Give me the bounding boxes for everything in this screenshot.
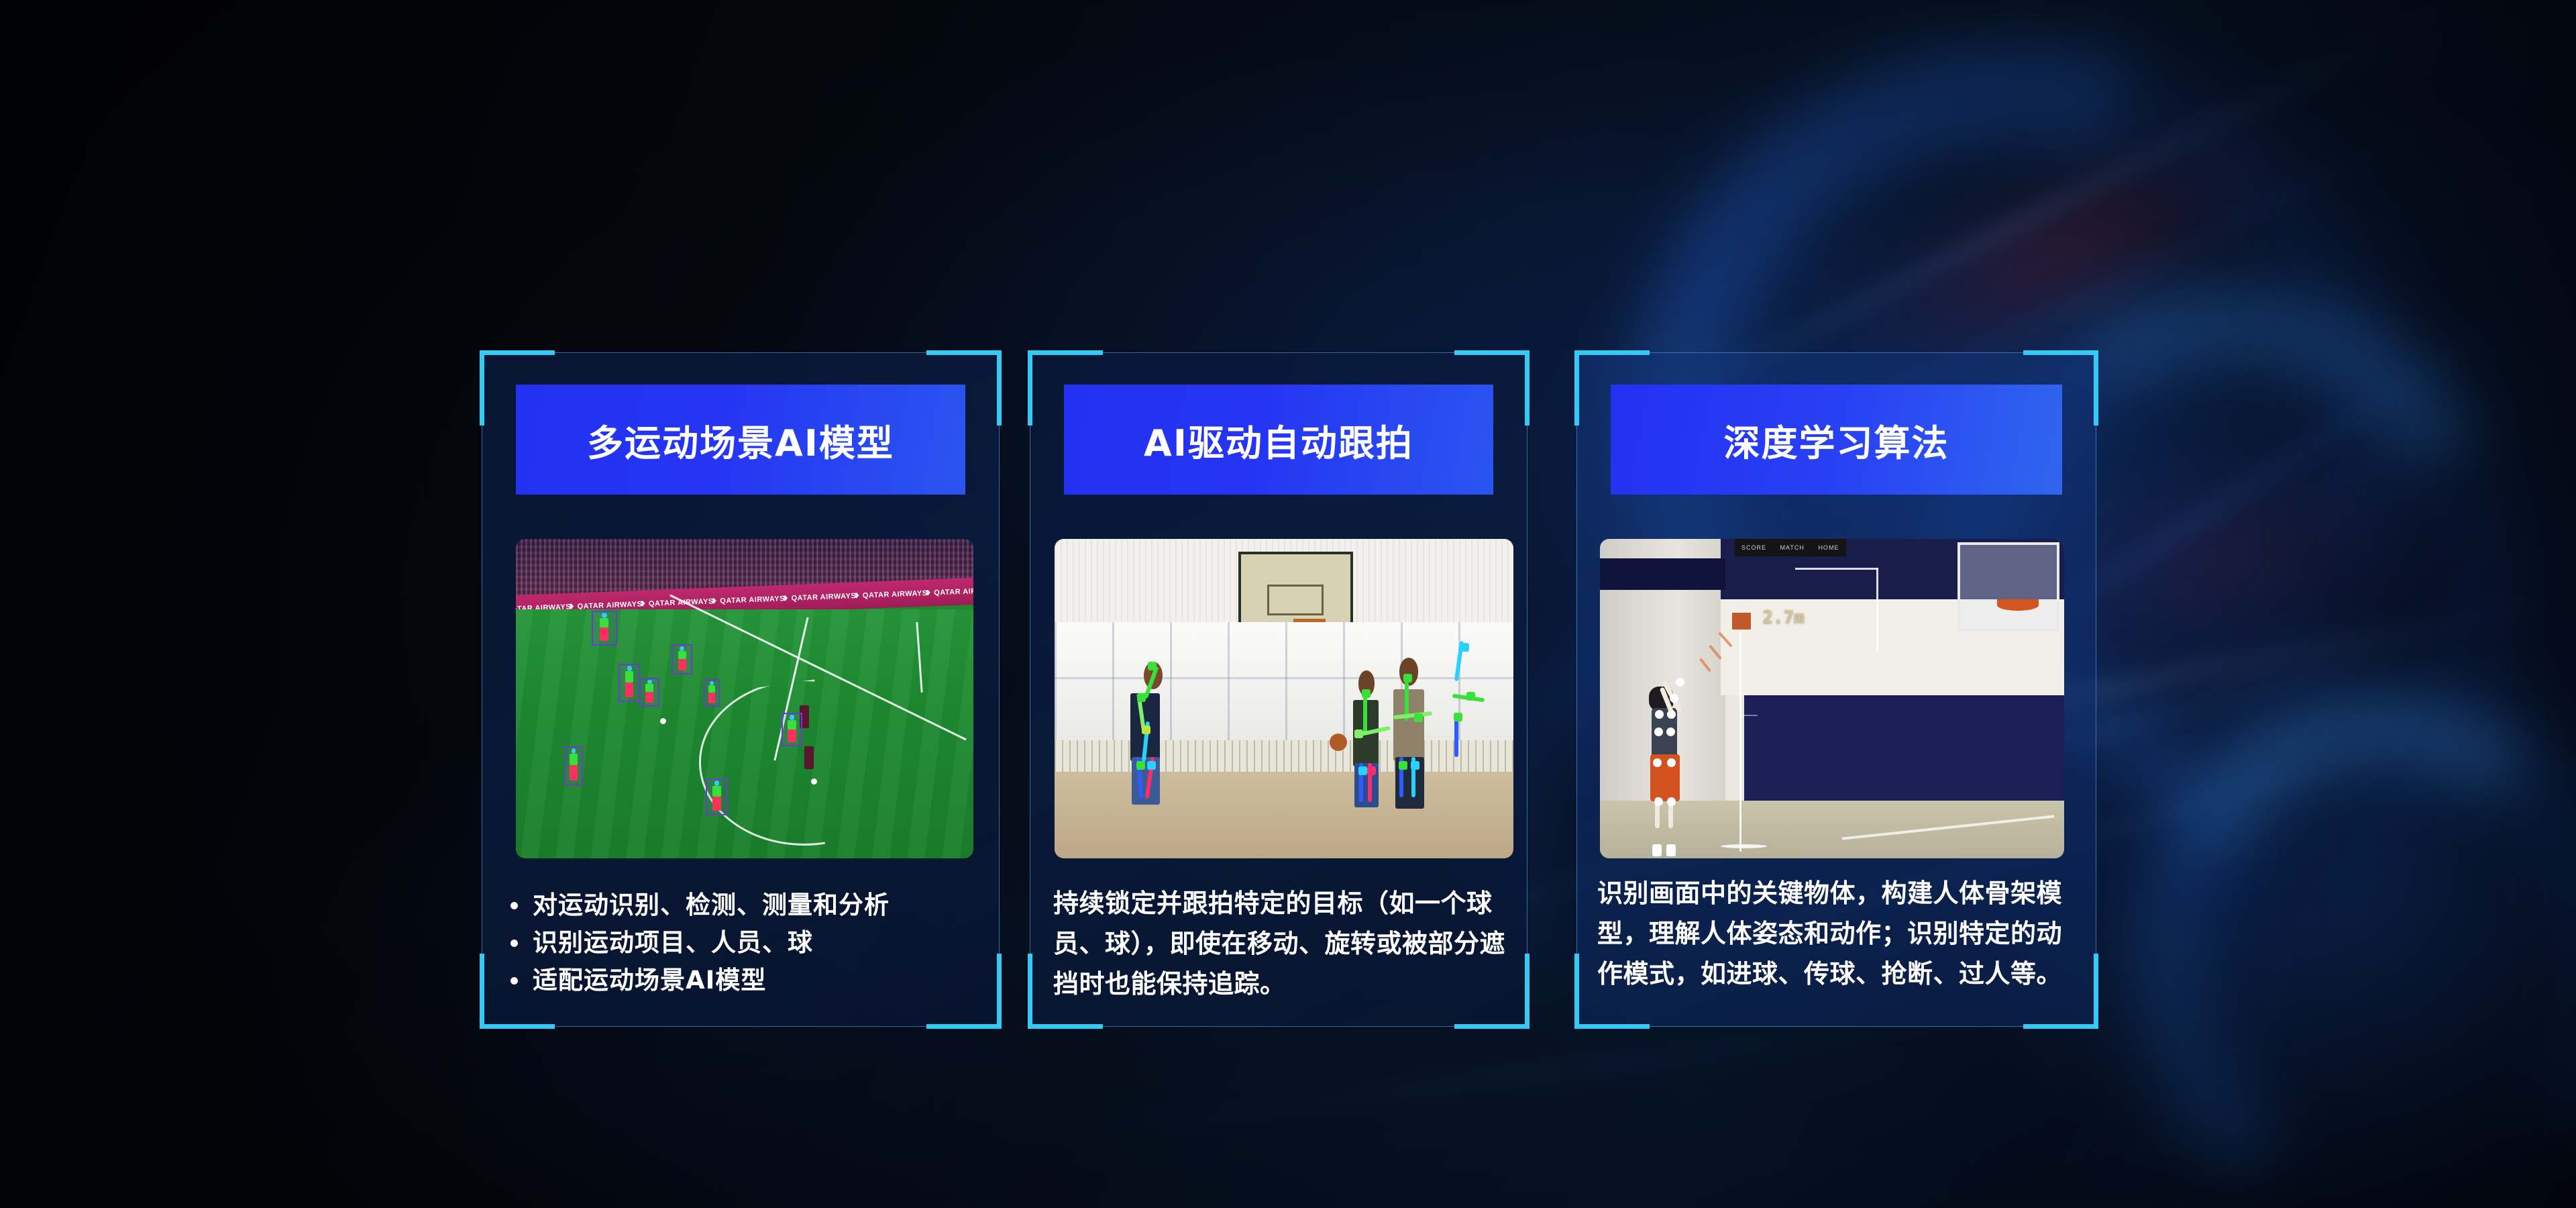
measurement-floor-marker [1721, 844, 1767, 848]
card-title: 深度学习算法 [1724, 413, 1949, 466]
pose-skeleton-player-1 [1114, 654, 1187, 852]
scoreboard-label: SCORE [1741, 544, 1766, 551]
card-media-shot-measurement: SCOREMATCHHOME 2.7m [1600, 539, 2064, 858]
pose-skeleton-shooter [1632, 679, 1707, 858]
card-body: 识别画面中的关键物体，构建人体骨架模型，理解人体姿态和动作；识别特定的动作模式，… [1577, 873, 2096, 994]
column-dark-band [1600, 558, 1725, 591]
card-body: 持续锁定并跟拍特定的目标（如一个球员、球），即使在移动、旋转或被部分遮挡时也能保… [1030, 883, 1527, 1004]
card-title: AI驱动自动跟拍 [1144, 413, 1413, 466]
bullet-text: 适配运动场景AI模型 [533, 962, 766, 999]
detection-box [704, 679, 720, 706]
ball-tracking-box [1730, 611, 1754, 632]
detection-box [619, 664, 639, 702]
detection-box [639, 678, 659, 707]
bullet-dot-icon [511, 977, 518, 985]
sponsor-text: ❥ QATAR AIRWAYS [711, 595, 785, 606]
bullet-dot-icon [511, 940, 518, 947]
feature-description: 持续锁定并跟拍特定的目标（如一个球员、球），即使在移动、旋转或被部分遮挡时也能保… [1053, 883, 1509, 1004]
card-header-banner: AI驱动自动跟拍 [1064, 385, 1493, 495]
measurement-guide-vertical [1876, 568, 1878, 651]
pose-skeleton-player-4 [1431, 641, 1491, 852]
feature-card-deep-learning-algorithm[interactable]: 深度学习算法 SCOREMATCHHOME [1576, 352, 2096, 1027]
feature-bullet-item: 对运动识别、检测、测量和分析 [511, 887, 979, 924]
sponsor-text: ❥ QATAR AIRWAYS [854, 589, 928, 601]
opponent-player [804, 746, 814, 769]
wall-padding [1744, 695, 2064, 801]
soccer-ball [660, 718, 666, 724]
measurement-plumb-line [1739, 615, 1741, 852]
scoreboard: SCOREMATCHHOME [1735, 539, 1846, 556]
card-media-soccer-detection: ❥ QATAR AIRWAYS❥ QATAR AIRWAYS❥ QATAR AI… [516, 539, 973, 858]
card-header-banner: 多运动场景AI模型 [516, 385, 965, 495]
scoreboard-label: MATCH [1780, 544, 1805, 551]
measurement-tick [1739, 715, 1758, 716]
feature-card-multi-sport-ai-model[interactable]: 多运动场景AI模型 ❥ QATAR AIRWAYS❥ QATAR AIRWAYS… [482, 352, 1000, 1027]
basketball-backboard [1957, 542, 2059, 632]
soccer-ball-secondary [811, 778, 817, 785]
card-title: 多运动场景AI模型 [587, 413, 894, 466]
bullet-text: 识别运动项目、人员、球 [533, 924, 813, 962]
sponsor-text: ❥ QATAR AIRWAYS [925, 587, 973, 598]
basketball-rim [1997, 599, 2039, 611]
bullet-text: 对运动识别、检测、测量和分析 [533, 887, 890, 924]
scoreboard-label: HOME [1818, 544, 1839, 551]
measurement-guide-horizontal [1795, 568, 1879, 570]
detection-box [592, 611, 617, 646]
feature-bullet-item: 适配运动场景AI模型 [511, 962, 979, 999]
feature-description: 识别画面中的关键物体，构建人体骨架模型，理解人体姿态和动作；识别特定的动作模式，… [1597, 873, 2081, 994]
basketball-backboard [1238, 552, 1353, 625]
card-body: 对运动识别、检测、测量和分析识别运动项目、人员、球适配运动场景AI模型 [482, 887, 999, 1000]
measurement-label: 2.7m [1762, 607, 1805, 627]
detection-box [672, 644, 692, 674]
bullet-dot-icon [511, 902, 518, 909]
feature-bullet-item: 识别运动项目、人员、球 [511, 924, 979, 962]
feature-bullet-list: 对运动识别、检测、测量和分析识别运动项目、人员、球适配运动场景AI模型 [511, 887, 979, 1000]
detection-box [706, 778, 728, 815]
sponsor-text: ❥ QATAR AIRWAYS [782, 592, 856, 603]
detection-box [564, 746, 584, 785]
card-header-banner: 深度学习算法 [1611, 385, 2062, 495]
feature-card-row: 多运动场景AI模型 ❥ QATAR AIRWAYS❥ QATAR AIRWAYS… [0, 0, 2576, 1208]
feature-card-ai-auto-tracking[interactable]: AI驱动自动跟拍 [1030, 352, 1527, 1027]
detection-box [782, 713, 802, 746]
card-media-pose-estimation [1055, 539, 1513, 858]
